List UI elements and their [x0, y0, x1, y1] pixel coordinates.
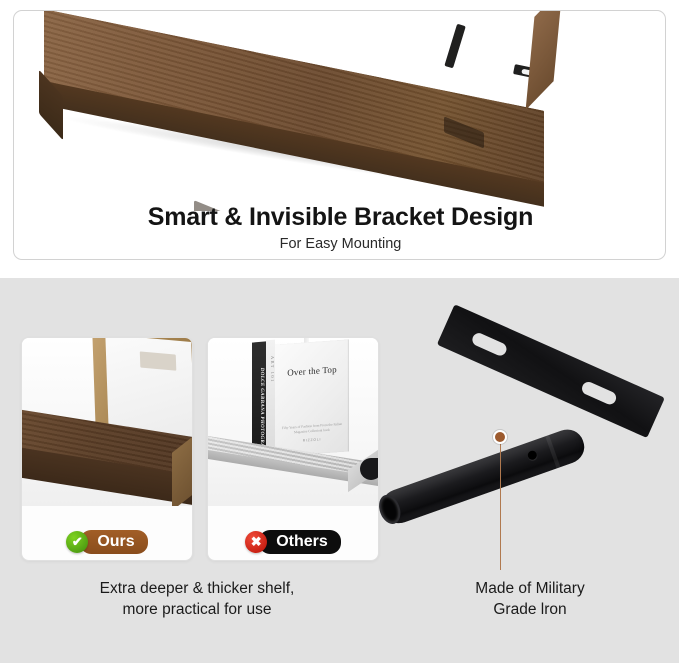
bottom-panel: ✔ Ours DOLCE GABBANA PHOTOGRAPHY ART 101… — [0, 278, 679, 663]
comparison-caption: Extra deeper & thicker shelf, more pract… — [12, 578, 382, 621]
hero-headline: Smart & Invisible Bracket Design — [14, 203, 666, 232]
book-title: Over the Top — [275, 363, 349, 378]
ours-badge-label: Ours — [80, 530, 147, 554]
comparison-caption-line2: more practical for use — [12, 599, 382, 620]
book-spine-thin: ART 101 — [266, 340, 275, 455]
plank-right-end-grain — [526, 11, 563, 110]
book-cover: Over the Top Fifty Years of Fashion from… — [275, 339, 349, 456]
others-badge-label: Others — [259, 530, 341, 554]
ours-badge: ✔ Ours — [22, 530, 192, 554]
book-publisher: RIZZOLI — [275, 435, 349, 444]
bracket-caption-line1: Made of Military — [385, 578, 675, 599]
hero-subheadline: For Easy Mounting — [14, 236, 666, 252]
book-spine-thin-label: ART 101 — [267, 356, 275, 441]
bracket-caption: Made of Military Grade lron — [385, 578, 675, 621]
callout-dot — [493, 430, 507, 444]
bracket-caption-line2: Grade lron — [385, 599, 675, 620]
plate-slot — [470, 331, 508, 358]
book-spine-dark: DOLCE GABBANA PHOTOGRAPHY — [252, 341, 266, 454]
rod-weld-joint — [545, 435, 560, 468]
picture-frame-art — [140, 351, 177, 370]
hero-card: Smart & Invisible Bracket Design For Eas… — [13, 10, 666, 260]
callout-leader-line — [500, 442, 502, 570]
plank-notch — [444, 116, 484, 148]
comparison-card-ours: ✔ Ours — [21, 337, 193, 561]
others-photo: DOLCE GABBANA PHOTOGRAPHY ART 101 Over t… — [208, 338, 378, 506]
bracket-illustration — [365, 288, 679, 578]
cross-mark-icon: ✖ — [245, 531, 267, 553]
comparison-caption-line1: Extra deeper & thicker shelf, — [12, 578, 382, 599]
top-panel: Smart & Invisible Bracket Design For Eas… — [0, 0, 679, 278]
bracket-rod — [377, 425, 588, 528]
hero-product-photo — [14, 11, 666, 211]
bracket-wall-plate — [437, 304, 665, 438]
comparison-card-others: DOLCE GABBANA PHOTOGRAPHY ART 101 Over t… — [207, 337, 379, 561]
book-spine-dark-label: DOLCE GABBANA PHOTOGRAPHY — [254, 368, 264, 423]
hero-text-block: Smart & Invisible Bracket Design For Eas… — [14, 203, 666, 252]
book-subtitle: Fifty Years of Fashion from From the Ita… — [275, 421, 349, 436]
ours-photo — [22, 338, 192, 506]
others-badge: ✖ Others — [208, 530, 378, 554]
wood-shelf-plank — [44, 11, 544, 159]
plate-slot — [580, 380, 618, 407]
rod-open-end — [378, 495, 402, 525]
rod-screw-hole — [527, 449, 538, 460]
